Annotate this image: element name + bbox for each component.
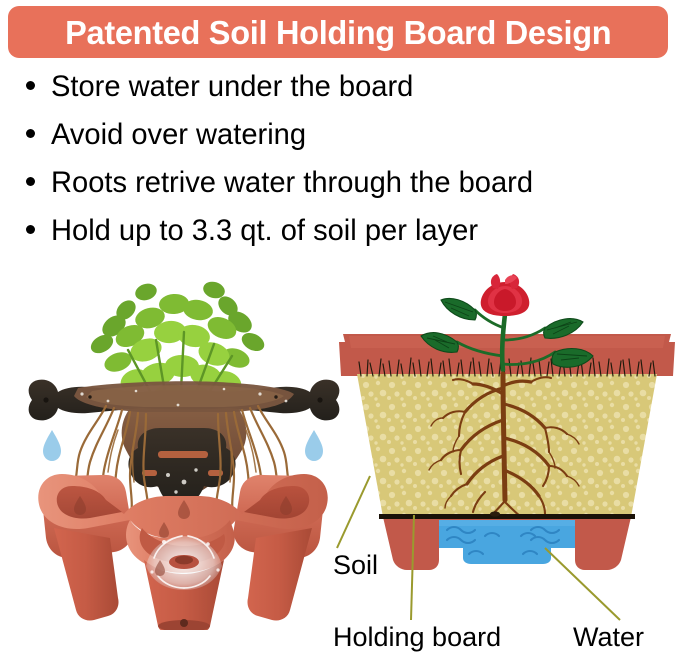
infographic-page: Patented Soil Holding Board Design Store… <box>0 0 679 655</box>
callout-label-water: Water <box>573 624 644 651</box>
list-item-label: Store water under the board <box>51 72 413 102</box>
list-item: Roots retrive water through the board <box>26 168 666 216</box>
water-reservoir <box>383 517 631 570</box>
callout-label-soil: Soil <box>333 552 378 579</box>
list-item-label: Avoid over watering <box>51 120 306 150</box>
rose-bloom <box>481 274 530 316</box>
stackable-planter-photo <box>18 270 348 630</box>
feature-bullet-list: Store water under the board Avoid over w… <box>26 72 666 264</box>
bullet-dot-icon <box>26 129 35 138</box>
list-item: Hold up to 3.3 qt. of soil per layer <box>26 216 666 264</box>
list-item-label: Roots retrive water through the board <box>51 168 533 198</box>
header-banner: Patented Soil Holding Board Design <box>8 6 668 58</box>
pot-cross-section-diagram <box>335 270 679 580</box>
callout-label-holding-board: Holding board <box>333 624 501 651</box>
list-item: Avoid over watering <box>26 120 666 168</box>
bullet-dot-icon <box>26 177 35 186</box>
list-item-label: Hold up to 3.3 qt. of soil per layer <box>51 216 478 246</box>
bullet-dot-icon <box>26 225 35 234</box>
bullet-dot-icon <box>26 81 35 90</box>
page-title: Patented Soil Holding Board Design <box>65 16 611 49</box>
trefoil-planter <box>38 474 327 630</box>
artwork-area <box>0 270 679 655</box>
list-item: Store water under the board <box>26 72 666 120</box>
